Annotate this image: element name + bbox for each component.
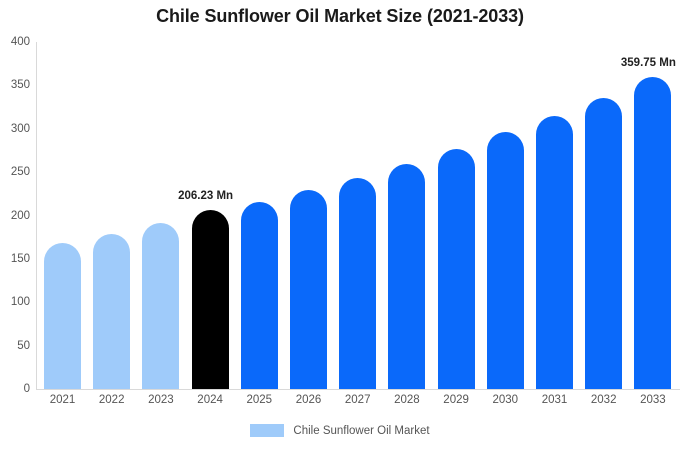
y-axis-tick-label: 250 xyxy=(0,166,30,178)
chart-title: Chile Sunflower Oil Market Size (2021-20… xyxy=(0,6,680,27)
x-axis-tick-label: 2032 xyxy=(585,394,622,406)
x-axis-tick-label: 2033 xyxy=(634,394,671,406)
bar-2023[interactable] xyxy=(142,223,179,389)
y-axis-tick-label: 200 xyxy=(0,210,30,222)
bar-2029[interactable] xyxy=(438,149,475,389)
bar-2030[interactable] xyxy=(487,132,524,389)
legend-swatch-icon xyxy=(250,424,284,437)
legend-item-label: Chile Sunflower Oil Market xyxy=(293,425,429,437)
bar-2025[interactable] xyxy=(241,202,278,389)
bar-2028[interactable] xyxy=(388,164,425,389)
y-axis-tick-label: 0 xyxy=(0,383,30,395)
bar-value-label-2024: 206.23 Mn xyxy=(178,190,233,202)
y-axis-tick-label: 300 xyxy=(0,123,30,135)
x-axis-tick-label: 2024 xyxy=(192,394,229,406)
x-axis-tick-label: 2022 xyxy=(93,394,130,406)
y-axis-tick-label: 350 xyxy=(0,79,30,91)
y-axis-line xyxy=(36,42,37,389)
x-axis-tick-label: 2030 xyxy=(487,394,524,406)
bar-2024[interactable] xyxy=(192,210,229,389)
chart-legend: Chile Sunflower Oil Market xyxy=(0,424,680,437)
x-axis-tick-label: 2027 xyxy=(339,394,376,406)
x-axis-tick-label: 2023 xyxy=(142,394,179,406)
x-axis-line xyxy=(36,389,680,390)
y-axis-tick-label: 150 xyxy=(0,253,30,265)
bar-2027[interactable] xyxy=(339,178,376,389)
bar-2032[interactable] xyxy=(585,98,622,389)
x-axis-tick-label: 2021 xyxy=(44,394,81,406)
x-axis-tick-label: 2029 xyxy=(438,394,475,406)
x-axis-tick-label: 2028 xyxy=(388,394,425,406)
bar-2026[interactable] xyxy=(290,190,327,389)
chart-container: Chile Sunflower Oil Market Size (2021-20… xyxy=(0,0,680,450)
bar-2021[interactable] xyxy=(44,243,81,389)
bar-2033[interactable] xyxy=(634,77,671,389)
bar-value-label-2033: 359.75 Mn xyxy=(621,57,676,69)
x-axis-tick-label: 2025 xyxy=(241,394,278,406)
y-axis-tick-label: 100 xyxy=(0,296,30,308)
x-axis-tick-label: 2026 xyxy=(290,394,327,406)
x-axis-tick-label: 2031 xyxy=(536,394,573,406)
plot-area: 050100150200250300350400 202120222023202… xyxy=(36,42,680,389)
bar-2022[interactable] xyxy=(93,234,130,389)
bar-2031[interactable] xyxy=(536,116,573,389)
y-axis-tick-label: 50 xyxy=(0,340,30,352)
y-axis-tick-label: 400 xyxy=(0,36,30,48)
